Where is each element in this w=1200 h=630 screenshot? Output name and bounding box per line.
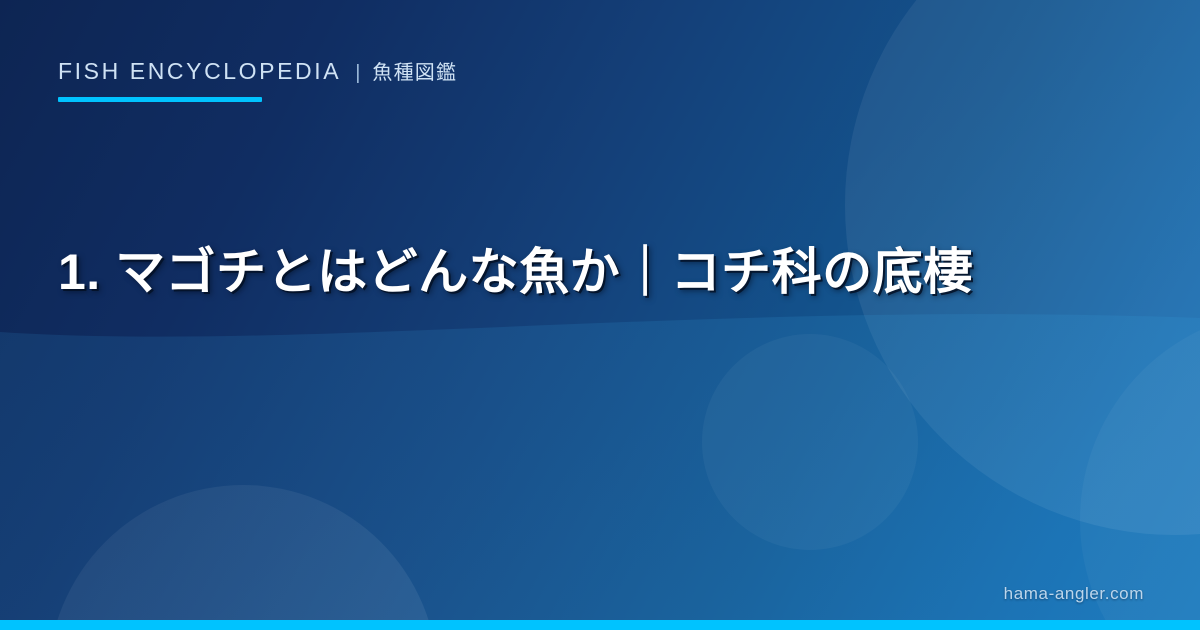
bottom-accent-bar: [0, 620, 1200, 630]
breadcrumb: FISH ENCYCLOPEDIA | 魚種図鑑: [58, 56, 457, 85]
site-domain: hama-angler.com: [1004, 584, 1144, 604]
breadcrumb-separator: |: [355, 62, 360, 85]
breadcrumb-label-jp: 魚種図鑑: [372, 56, 457, 85]
breadcrumb-accent-rule: [58, 97, 262, 102]
background-gradient: [0, 0, 1200, 630]
title-block: 1. マゴチとはどんな魚か｜コチ科の底棲: [58, 240, 1140, 304]
breadcrumb-label-en: FISH ENCYCLOPEDIA: [58, 58, 341, 85]
page-title: 1. マゴチとはどんな魚か｜コチ科の底棲: [58, 240, 1140, 304]
og-image-card: FISH ENCYCLOPEDIA | 魚種図鑑 1. マゴチとはどんな魚か｜コ…: [0, 0, 1200, 630]
